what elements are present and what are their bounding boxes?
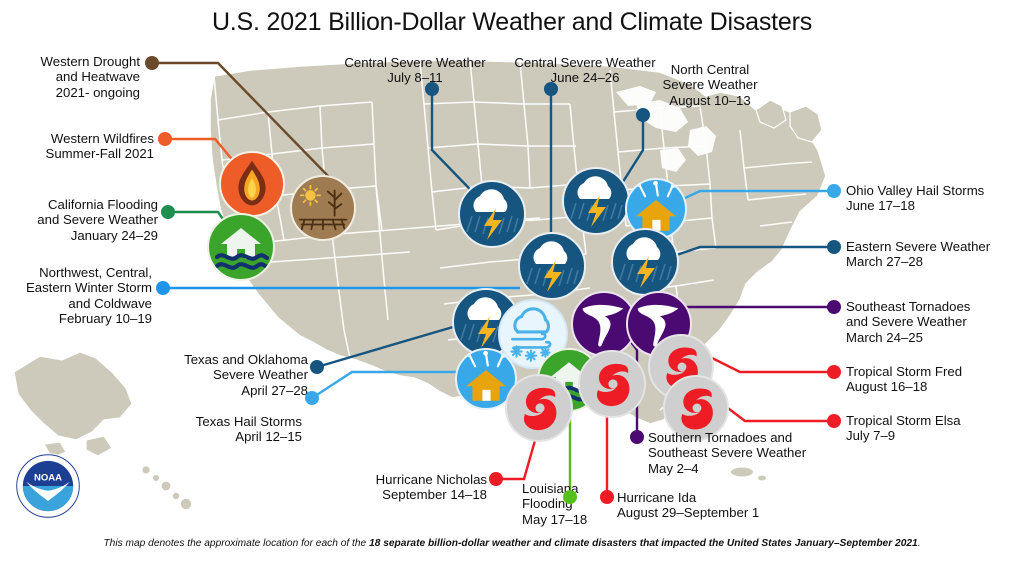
noaa-logo[interactable]: NOAA (14, 452, 82, 520)
label-texas-oklahoma: Texas and Oklahoma Severe Weather April … (150, 352, 308, 398)
label-louisiana-flood: Louisiana Flooding May 17–18 (522, 481, 612, 527)
label-ts-elsa: Tropical Storm Elsa July 7–9 (846, 413, 1024, 444)
label-hurricane-ida: Hurricane Ida August 29–September 1 (617, 490, 827, 521)
dot-winter-storm[interactable] (156, 281, 170, 295)
label-western-wildfires: Western Wildfires Summer-Fall 2021 (0, 131, 154, 162)
dot-western-wildfires[interactable] (158, 132, 172, 146)
label-north-central: North Central Severe Weather August 10–1… (645, 62, 775, 108)
dot-ts-elsa[interactable] (827, 414, 841, 428)
label-southern-tornado: Southern Tornadoes and Southeast Severe … (648, 430, 848, 476)
dot-eastern-severe[interactable] (827, 240, 841, 254)
label-california-flood: California Flooding and Severe Weather J… (0, 197, 158, 243)
label-western-drought: Western Drought and Heatwave 2021- ongoi… (0, 54, 140, 100)
dot-california-flood[interactable] (161, 205, 175, 219)
label-ohio-valley-hail: Ohio Valley Hail Storms June 17–18 (846, 183, 1024, 214)
dot-texas-oklahoma[interactable] (310, 360, 324, 374)
dot-texas-hail[interactable] (305, 391, 319, 405)
footer-bold: 18 separate billion-dollar weather and c… (369, 538, 918, 549)
footer-tail: . (918, 538, 921, 549)
dot-ohio-valley-hail[interactable] (827, 184, 841, 198)
dot-southeast-tornado[interactable] (827, 300, 841, 314)
dot-hurricane-ida[interactable] (600, 490, 614, 504)
noaa-wordmark: NOAA (34, 473, 62, 484)
label-ts-fred: Tropical Storm Fred August 16–18 (846, 364, 1024, 395)
label-winter-storm: Northwest, Central, Eastern Winter Storm… (0, 265, 152, 327)
dot-central-june[interactable] (544, 82, 558, 96)
event-labels: Western Drought and Heatwave 2021- ongoi… (0, 0, 1024, 565)
dot-central-july[interactable] (425, 82, 439, 96)
dot-north-central[interactable] (636, 108, 650, 122)
dot-louisiana-flood[interactable] (563, 490, 577, 504)
label-central-july: Central Severe Weather July 8–11 (320, 55, 510, 86)
dot-ts-fred[interactable] (827, 365, 841, 379)
footer-lead: This map denotes the approximate locatio… (103, 538, 369, 549)
disaster-map-page: U.S. 2021 Billion-Dollar Weather and Cli… (0, 0, 1024, 565)
dot-hurricane-nicholas[interactable] (489, 472, 503, 486)
label-hurricane-nicholas: Hurricane Nicholas September 14–18 (335, 472, 487, 503)
label-texas-hail: Texas Hail Storms April 12–15 (150, 414, 302, 445)
dot-western-drought[interactable] (145, 56, 159, 70)
footer-note: This map denotes the approximate locatio… (0, 538, 1024, 549)
label-eastern-severe: Eastern Severe Weather March 27–28 (846, 239, 1024, 270)
dot-southern-tornado[interactable] (630, 430, 644, 444)
label-southeast-tornado: Southeast Tornadoes and Severe Weather M… (846, 299, 1024, 345)
